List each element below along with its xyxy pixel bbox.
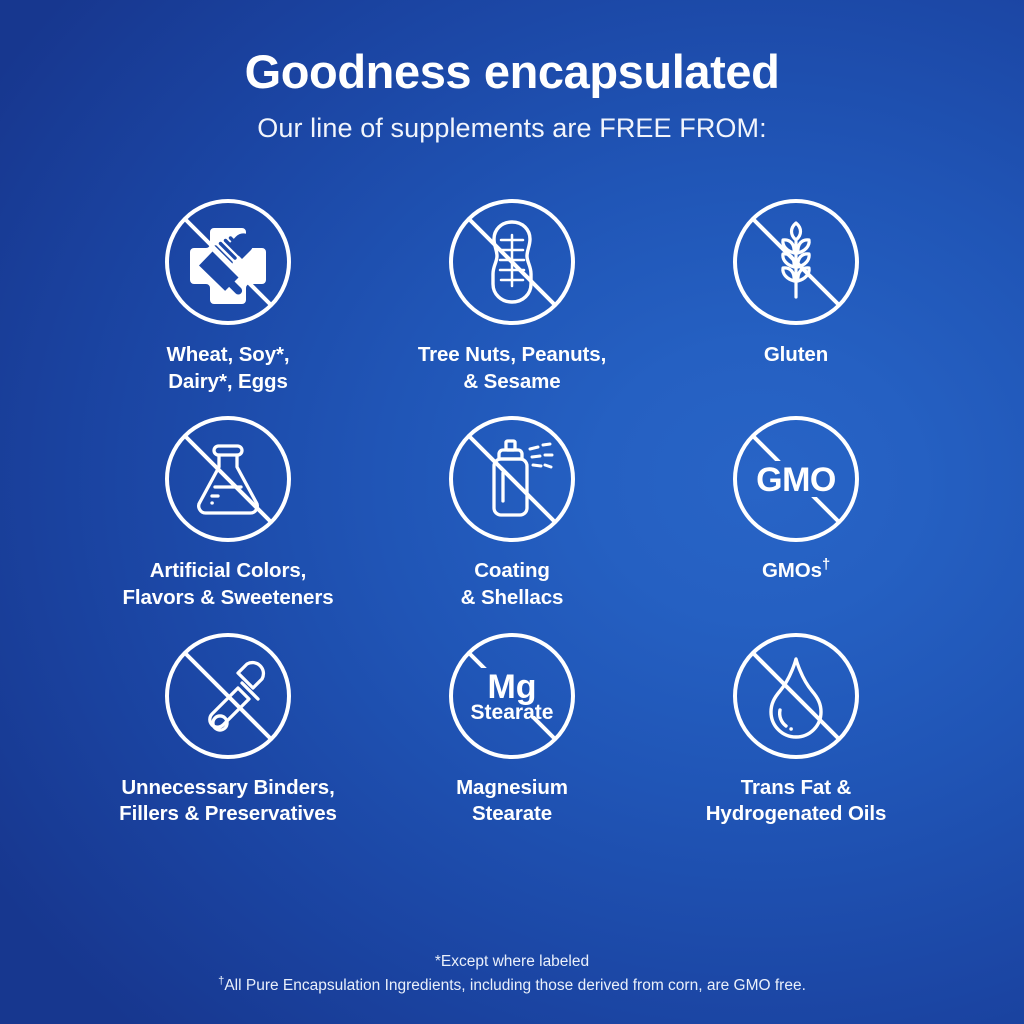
no-spray-can-icon: [446, 413, 578, 545]
no-wheat-stalk-icon: [730, 196, 862, 328]
free-from-item-label: Gluten: [764, 342, 828, 369]
no-flask-icon: [162, 413, 294, 545]
no-gmo-icon: GMO: [730, 413, 862, 545]
header: Goodness encapsulated Our line of supple…: [0, 0, 1024, 144]
no-fork-cross-icon: [162, 196, 294, 328]
free-from-item-label: Wheat, Soy*, Dairy*, Eggs: [167, 342, 290, 395]
footnote-except-where-labeled: *Except where labeled: [0, 950, 1024, 974]
free-from-item-label: Magnesium Stearate: [456, 775, 568, 828]
free-from-grid: Wheat, Soy*, Dairy*, Eggs: [86, 196, 938, 828]
free-from-infographic: Goodness encapsulated Our line of supple…: [0, 0, 1024, 1024]
no-magnesium-stearate-icon: Mg Stearate: [446, 630, 578, 762]
no-peanut-icon: [446, 196, 578, 328]
free-from-item-label: Trans Fat & Hydrogenated Oils: [706, 775, 887, 828]
free-from-item-label: Tree Nuts, Peanuts, & Sesame: [418, 342, 606, 395]
free-from-item-label: Artificial Colors, Flavors & Sweeteners: [122, 558, 333, 611]
free-from-item-trans-fat-hydrogenated-oils: Trans Fat & Hydrogenated Oils: [654, 630, 938, 828]
page-subtitle: Our line of supplements are FREE FROM:: [0, 113, 1024, 144]
footnotes: *Except where labeled †All Pure Encapsul…: [0, 950, 1024, 998]
free-from-item-artificial-colors-flavors-sweeteners: Artificial Colors, Flavors & Sweeteners: [86, 413, 370, 611]
free-from-item-gluten: Gluten: [654, 196, 938, 395]
free-from-item-label: GMOs†: [762, 558, 830, 585]
free-from-item-gmos: GMO GMOs†: [654, 413, 938, 611]
footnote-gmo-free: †All Pure Encapsulation Ingredients, inc…: [0, 974, 1024, 998]
stearate-icon-text: Stearate: [471, 701, 554, 724]
free-from-item-unnecessary-binders-fillers-preservatives: Unnecessary Binders, Fillers & Preservat…: [86, 630, 370, 828]
no-oil-droplet-icon: [730, 630, 862, 762]
free-from-item-label: Unnecessary Binders, Fillers & Preservat…: [119, 775, 337, 828]
dagger-superscript: †: [822, 557, 830, 573]
page-title: Goodness encapsulated: [0, 46, 1024, 99]
free-from-item-tree-nuts-peanuts-sesame: Tree Nuts, Peanuts, & Sesame: [370, 196, 654, 395]
free-from-item-coating-shellacs: Coating & Shellacs: [370, 413, 654, 611]
free-from-item-magnesium-stearate: Mg Stearate Magnesium Stearate: [370, 630, 654, 828]
free-from-item-label: Coating & Shellacs: [461, 558, 564, 611]
no-dropper-icon: [162, 630, 294, 762]
free-from-item-wheat-soy-dairy-eggs: Wheat, Soy*, Dairy*, Eggs: [86, 196, 370, 395]
